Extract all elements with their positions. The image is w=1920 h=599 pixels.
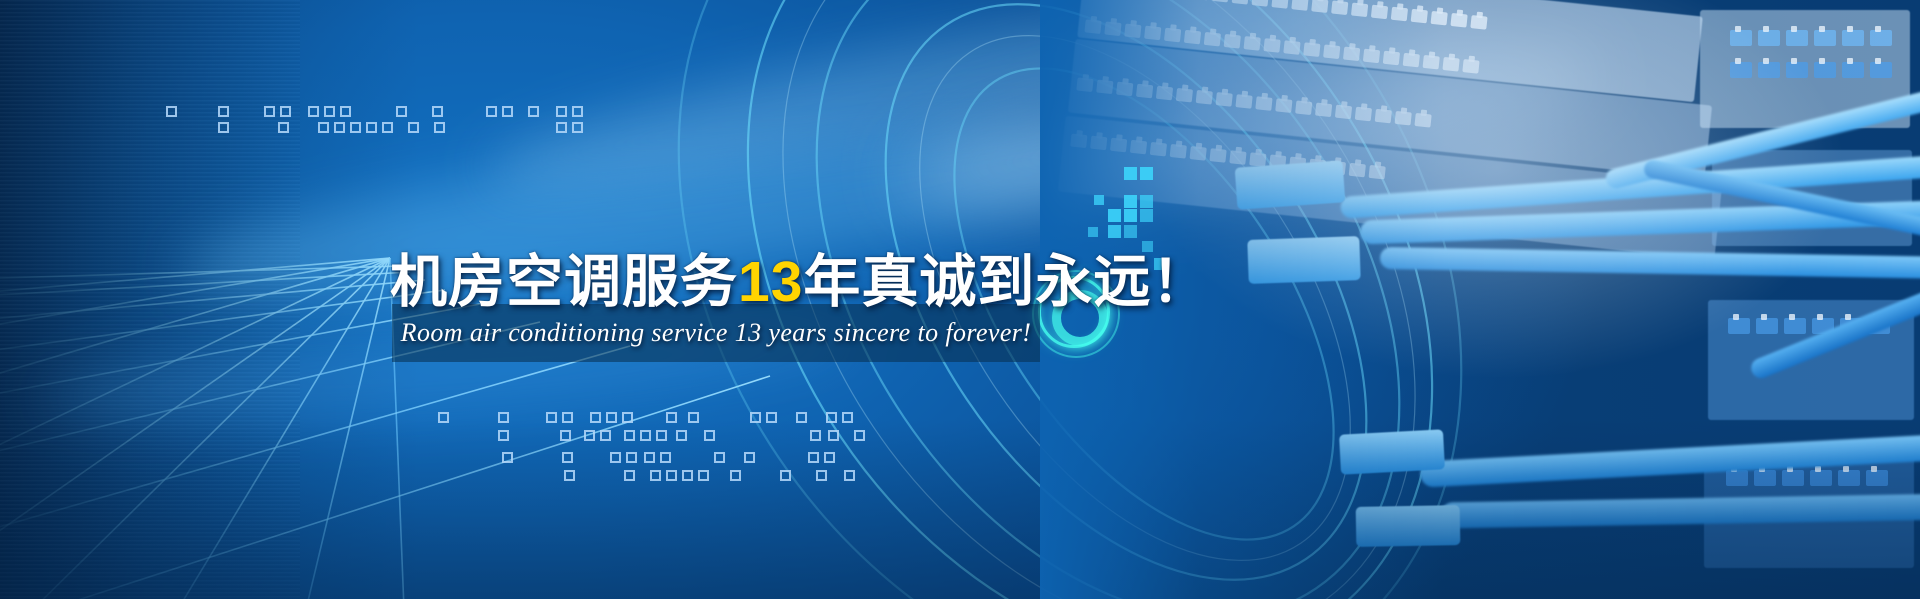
subtitle: Room air conditioning service 13 years s… — [392, 304, 1040, 362]
promo-banner: 机房空调服务13年真诚到永远！ Room air conditioning se… — [0, 0, 1920, 599]
